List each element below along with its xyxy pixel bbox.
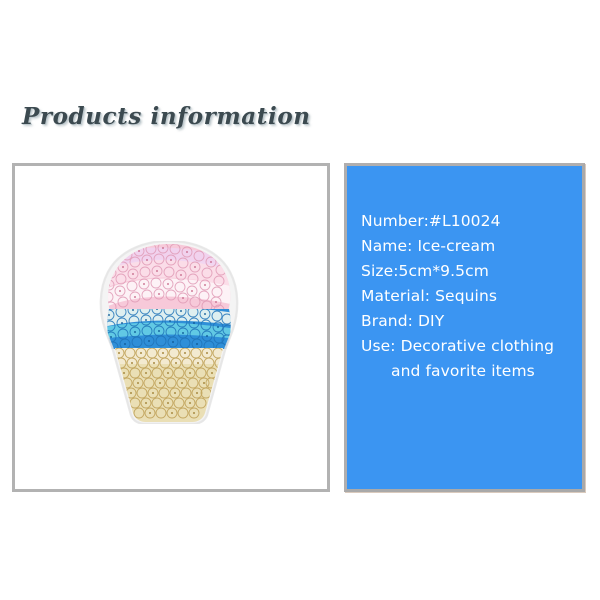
page-title: Products information	[22, 103, 311, 130]
ice-cream-patch-illustration	[93, 241, 245, 424]
spec-line-name: Name: Ice-cream	[361, 234, 576, 259]
spec-line-use: Use: Decorative clothing	[361, 334, 576, 359]
sequin-ice-cream-patch-image	[93, 241, 245, 424]
product-photo-panel	[12, 163, 330, 492]
spec-line-brand: Brand: DIY	[361, 309, 576, 334]
spec-line-material: Material: Sequins	[361, 284, 576, 309]
product-spec-list: Number:#L10024 Name: Ice-cream Size:5cm*…	[361, 209, 576, 384]
spec-line-number: Number:#L10024	[361, 209, 576, 234]
patch-middle-swirl	[93, 304, 245, 353]
spec-line-size: Size:5cm*9.5cm	[361, 259, 576, 284]
spec-line-use-continued: and favorite items	[361, 359, 576, 384]
product-photo	[15, 166, 327, 489]
patch-top-swirl	[93, 241, 245, 316]
product-information-panel: Number:#L10024 Name: Ice-cream Size:5cm*…	[344, 163, 585, 492]
